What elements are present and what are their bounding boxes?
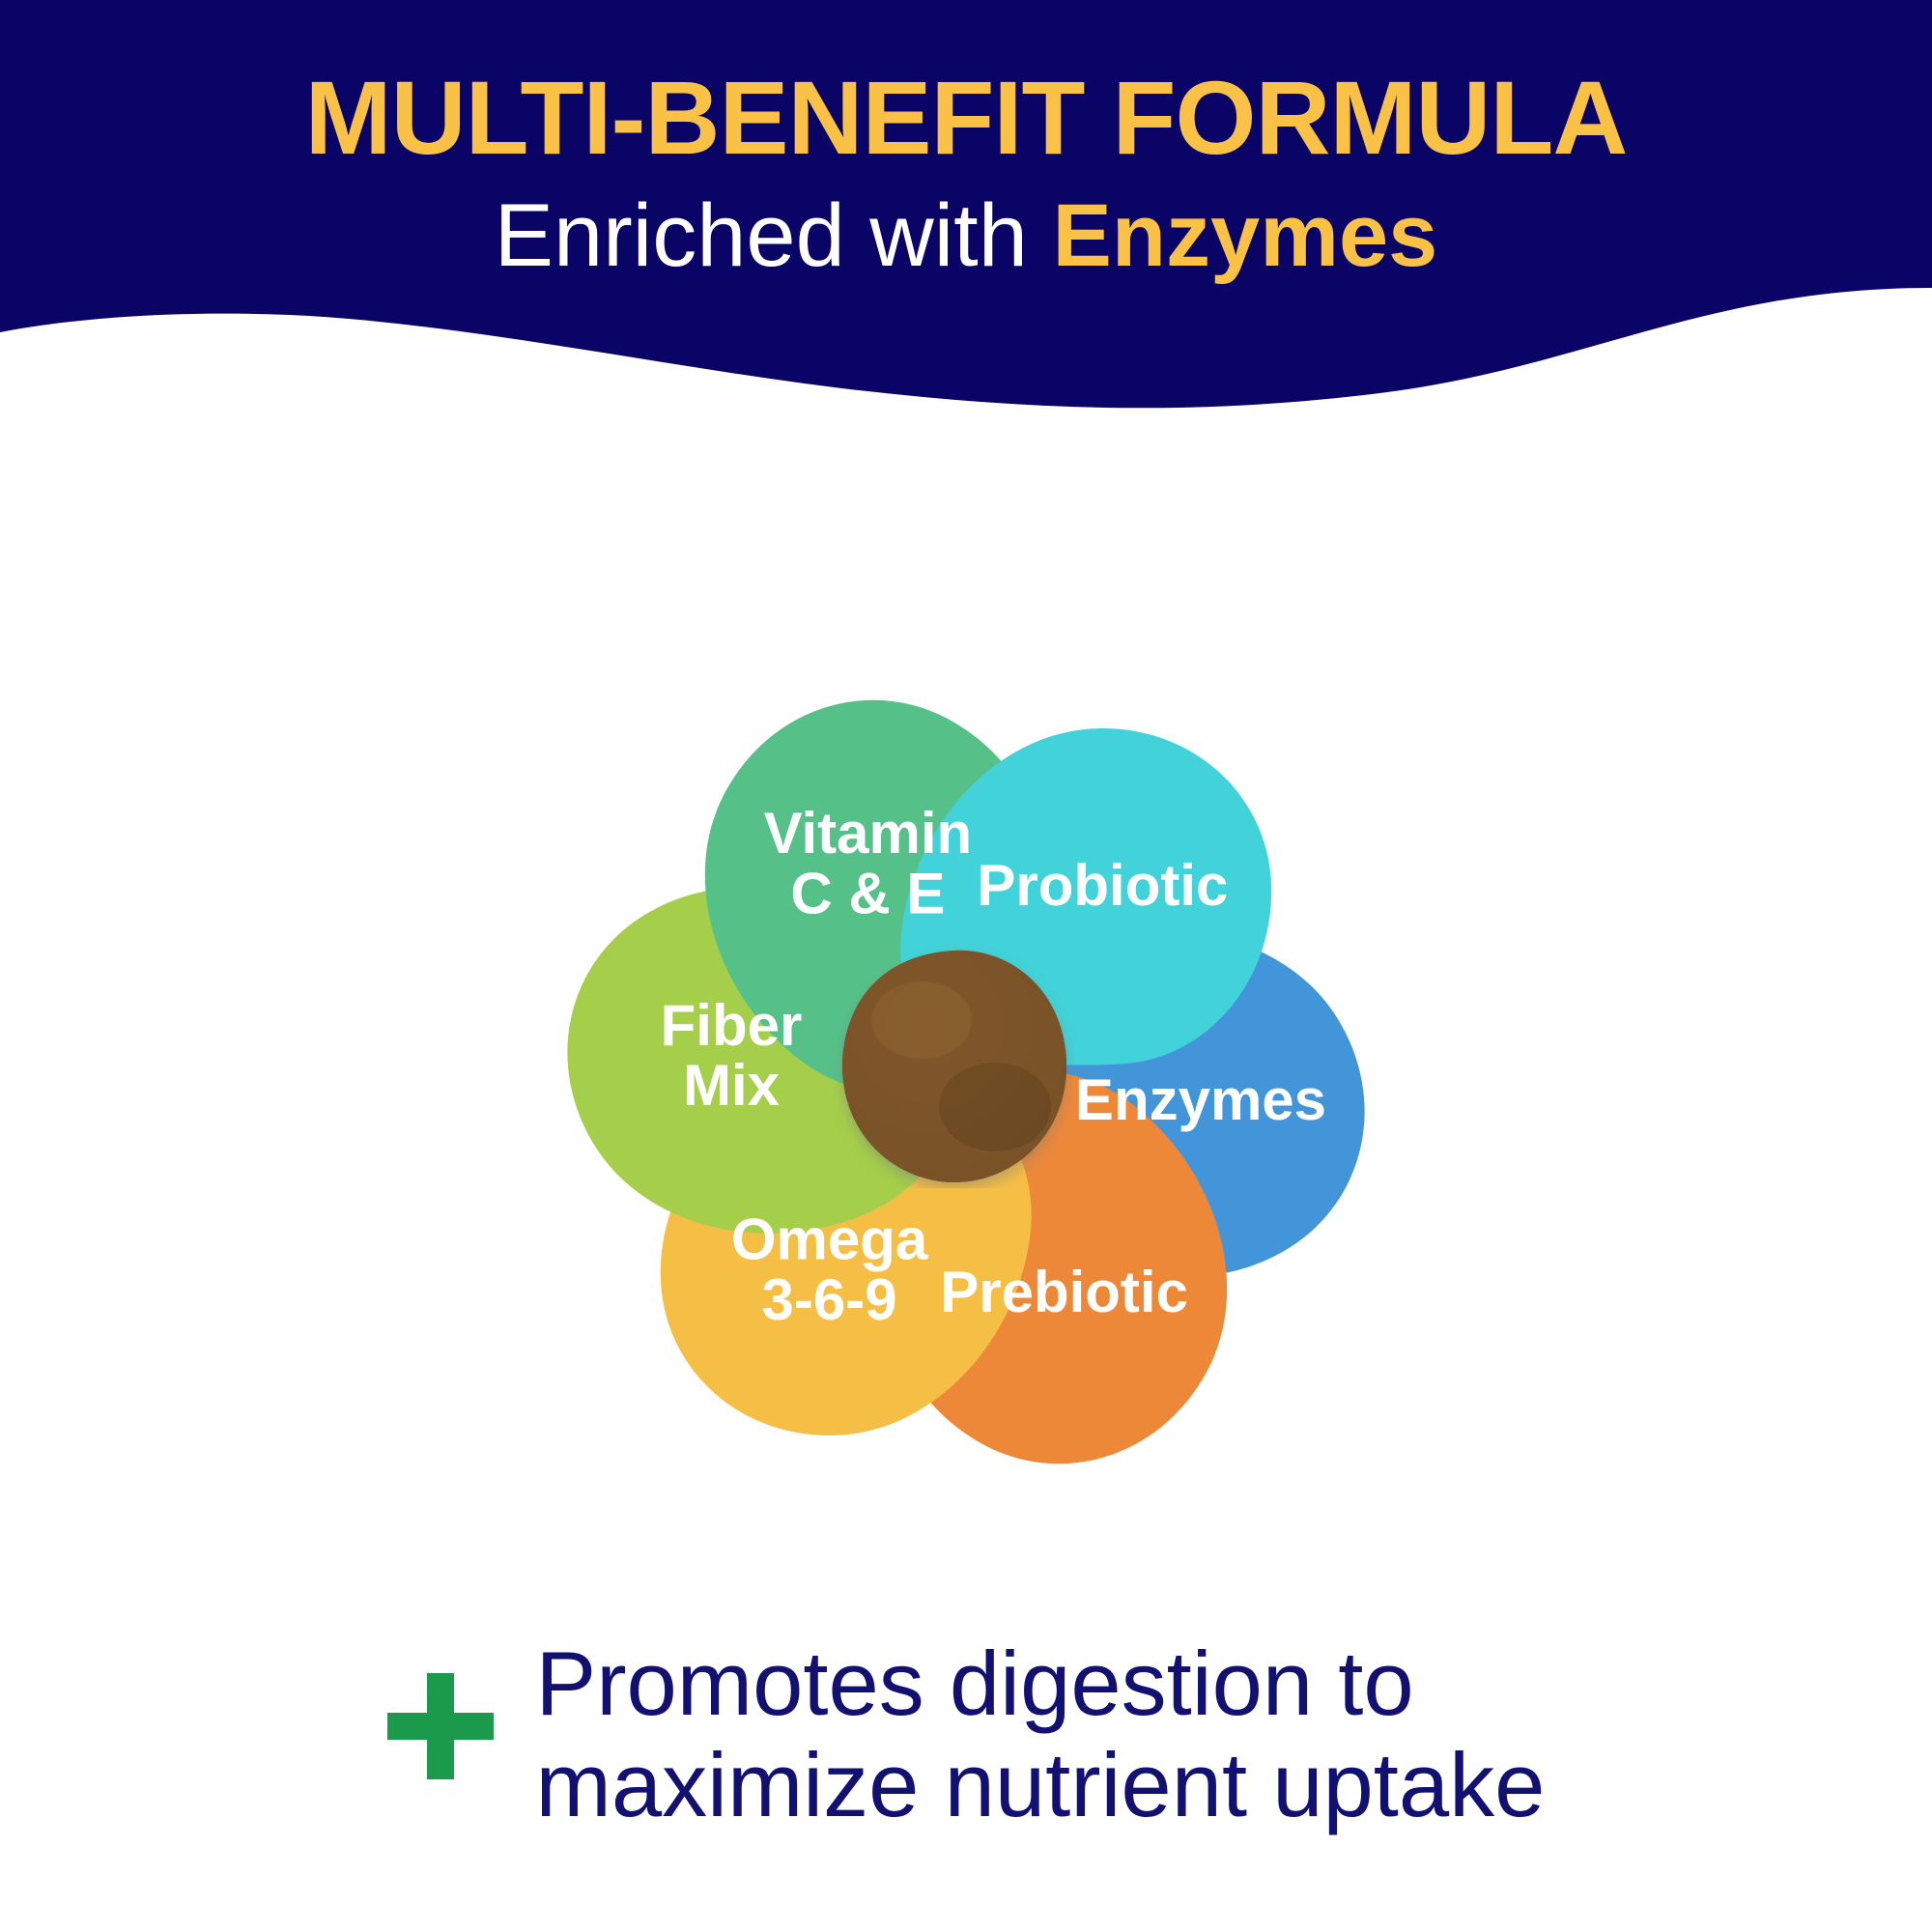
petal-label-line1: Vitamin	[764, 801, 973, 866]
petal-label-line1: Probiotic	[977, 853, 1228, 918]
petal-label-line1: Prebiotic	[940, 1260, 1188, 1324]
petal-label-line2: 3-6-9	[762, 1267, 897, 1332]
product-feature-graphic: MULTI-BENEFIT FORMULA Enriched with Enzy…	[0, 0, 1932, 1932]
petal-label-line1: Enzymes	[1075, 1067, 1326, 1132]
claim-line-2: maximize nutrient uptake	[536, 1734, 1546, 1835]
claim-row: Promotes digestion to maximize nutrient …	[0, 1633, 1932, 1922]
petal-label-vitamin: VitaminC & E	[764, 801, 973, 925]
header-banner	[0, 0, 1932, 444]
dog-treat-kibble-image	[833, 945, 1076, 1188]
petal-label-line2: C & E	[790, 861, 945, 925]
petal-label-line1: Fiber	[661, 993, 803, 1058]
claim-text: Promotes digestion to maximize nutrient …	[536, 1633, 1546, 1836]
petal-label-line2: Mix	[683, 1053, 780, 1118]
petal-label-line1: Omega	[731, 1207, 928, 1272]
petal-label-enzymes: Enzymes	[1075, 1067, 1326, 1132]
plus-icon	[387, 1673, 494, 1779]
petal-label-prebiotic: Prebiotic	[940, 1260, 1188, 1324]
claim-line-1: Promotes digestion to	[536, 1633, 1546, 1734]
kibble-texture	[833, 945, 1076, 1188]
petal-label-probiotic: Probiotic	[977, 853, 1228, 918]
banner-wave-shape	[0, 0, 1932, 408]
